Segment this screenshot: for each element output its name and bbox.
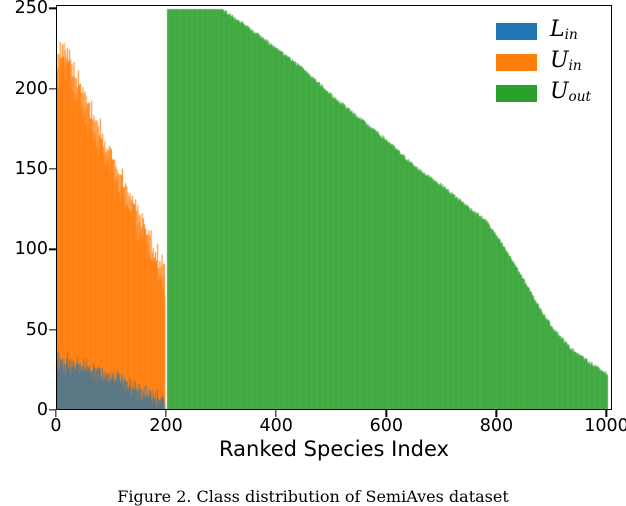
x-tick-mark xyxy=(165,410,166,417)
legend-label-l-in: Lin xyxy=(550,19,578,43)
plot-axes: Lin Uin Uout xyxy=(56,5,612,410)
x-tick-label: 1000 xyxy=(584,416,626,436)
x-tick-mark xyxy=(55,410,56,417)
legend-item-u-out: Uout xyxy=(496,82,591,104)
x-tick-label: 400 xyxy=(259,416,292,436)
x-tick-label: 200 xyxy=(149,416,182,436)
figure-container: Lin Uin Uout Number of Images Ranked Spe… xyxy=(0,0,626,498)
y-tick-label: 50 xyxy=(0,320,48,340)
figure-caption: Figure 2. Class distribution of SemiAves… xyxy=(117,487,509,506)
y-tick-mark xyxy=(49,168,56,169)
y-tick-mark xyxy=(49,88,56,89)
x-tick-label: 600 xyxy=(370,416,403,436)
x-axis-label: Ranked Species Index xyxy=(219,437,449,461)
y-tick-label: 200 xyxy=(0,79,48,99)
y-tick-label: 100 xyxy=(0,239,48,259)
x-tick-mark xyxy=(276,410,277,417)
chart-legend: Lin Uin Uout xyxy=(490,16,597,108)
y-tick-label: 250 xyxy=(0,0,48,18)
y-tick-label: 0 xyxy=(0,400,48,420)
x-tick-mark xyxy=(386,410,387,417)
x-tick-mark xyxy=(606,410,607,417)
legend-label-u-in: Uin xyxy=(550,50,582,74)
y-tick-label: 150 xyxy=(0,159,48,179)
y-tick-mark xyxy=(49,329,56,330)
legend-swatch-u-in xyxy=(496,54,537,71)
x-tick-mark xyxy=(496,410,497,417)
y-tick-mark xyxy=(49,8,56,9)
legend-swatch-u-out xyxy=(496,85,537,102)
legend-item-l-in: Lin xyxy=(496,20,591,42)
legend-label-u-out: Uout xyxy=(550,81,591,105)
x-tick-label: 0 xyxy=(50,416,61,436)
y-tick-mark xyxy=(49,249,56,250)
x-tick-label: 800 xyxy=(480,416,513,436)
legend-swatch-l-in xyxy=(496,23,537,40)
legend-item-u-in: Uin xyxy=(496,51,591,73)
